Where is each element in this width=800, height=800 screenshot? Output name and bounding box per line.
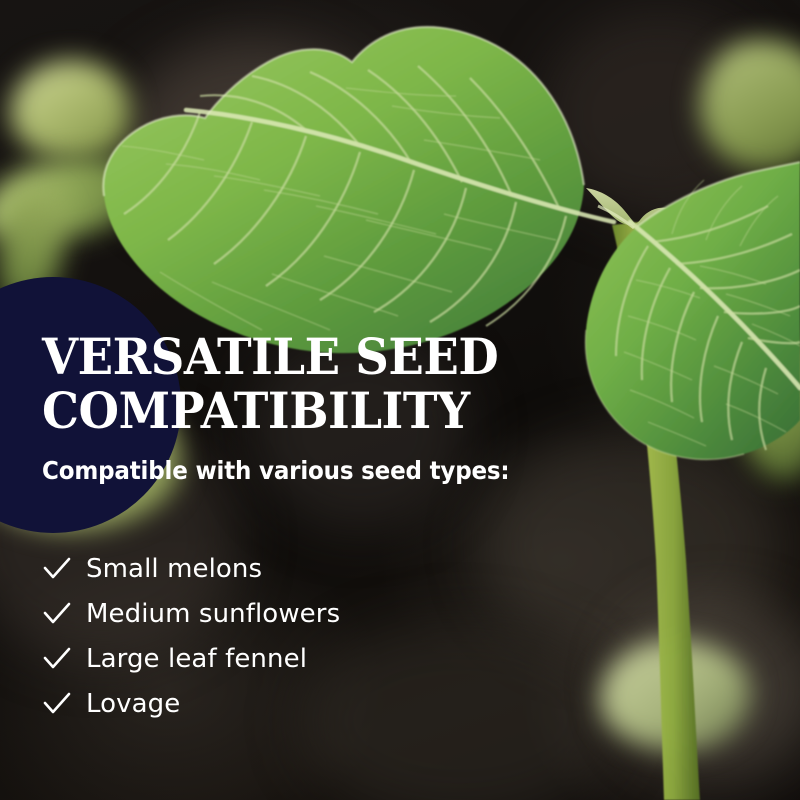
background-sprout (0, 144, 146, 254)
soil-blur-blob (540, 10, 780, 220)
subheadline: Compatible with various seed types: (42, 438, 557, 486)
soil-blur-blob (120, 40, 380, 240)
list-item: Small melons (42, 546, 562, 591)
promo-banner: VERSATILE SEED COMPATIBILITY Compatible … (0, 0, 800, 800)
background-sprout (700, 40, 800, 170)
list-item-label: Medium sunflowers (86, 599, 340, 629)
list-item-label: Lovage (86, 689, 180, 719)
background-sprout (10, 60, 130, 160)
soil-blur-blob (620, 600, 800, 770)
list-item: Medium sunflowers (42, 591, 562, 636)
background-sprout (600, 640, 750, 750)
check-icon (42, 691, 86, 717)
list-item: Large leaf fennel (42, 636, 562, 681)
background-sprout (727, 326, 800, 485)
headline-line-2: COMPATIBILITY (42, 384, 563, 438)
list-item-label: Large leaf fennel (86, 644, 307, 674)
check-icon (42, 646, 86, 672)
check-icon (42, 556, 86, 582)
text-content-block: VERSATILE SEED COMPATIBILITY Compatible … (42, 330, 602, 486)
list-item: Lovage (42, 681, 562, 726)
check-icon (42, 601, 86, 627)
seed-compatibility-list: Small melons Medium sunflowers Large lea… (42, 546, 562, 726)
list-item-label: Small melons (86, 554, 262, 584)
headline-line-1: VERSATILE SEED (42, 330, 563, 384)
